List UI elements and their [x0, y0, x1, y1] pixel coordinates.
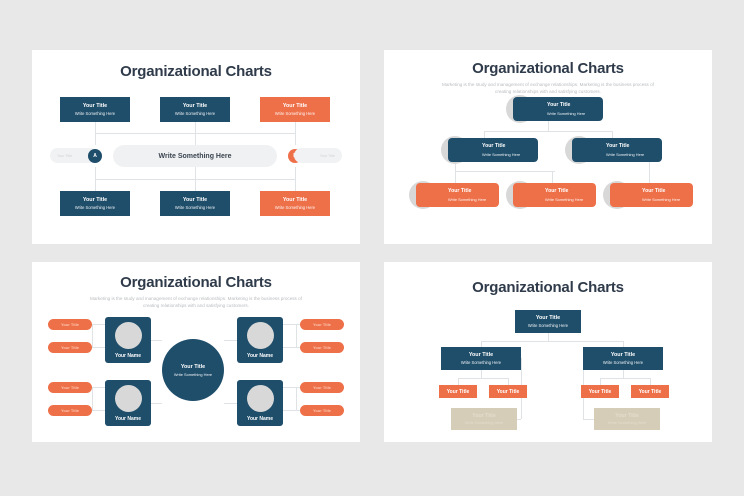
- node-title: Your Title: [639, 389, 662, 395]
- slide-thumbnail-1[interactable]: Organizational Charts Your Title Write S…: [32, 50, 360, 244]
- connector: [484, 131, 485, 138]
- node-desc: Write Something Here: [175, 111, 215, 116]
- connector: [283, 324, 300, 325]
- org-node[interactable]: Your Title Write Something Here: [260, 191, 330, 216]
- connector: [481, 341, 623, 342]
- org-node[interactable]: Your Title Write Something Here: [572, 138, 662, 162]
- node-title: Your Title: [589, 389, 612, 395]
- node-desc: Write Something Here: [482, 152, 538, 157]
- pill-label: Your Title: [313, 345, 331, 350]
- connector: [295, 167, 296, 191]
- node-desc: Write Something Here: [465, 420, 503, 425]
- org-node-leaf[interactable]: Your Title: [581, 385, 619, 398]
- node-desc: Write Something Here: [606, 152, 662, 157]
- connector: [151, 340, 162, 341]
- node-title: Your Title: [83, 197, 107, 204]
- page-subtitle: Marketing is the study and management of…: [441, 81, 656, 95]
- side-pill-label: Your Title: [320, 154, 335, 158]
- node-title: Your Title: [83, 103, 107, 110]
- connector: [224, 403, 237, 404]
- connector: [623, 370, 624, 378]
- node-desc: Write Something Here: [545, 197, 596, 202]
- node-desc: Write Something Here: [175, 205, 215, 210]
- connector: [548, 333, 549, 341]
- side-pill-right[interactable]: Your Title: [294, 148, 342, 163]
- avatar: [247, 385, 274, 412]
- slide-thumbnail-4[interactable]: Organizational Charts Your Title Write S…: [384, 262, 712, 442]
- connector: [517, 419, 521, 420]
- branch-pill[interactable]: Your Title: [48, 342, 92, 353]
- org-node-leaf[interactable]: Your Title: [631, 385, 669, 398]
- avatar: [247, 322, 274, 349]
- branch-pill[interactable]: Your Title: [48, 382, 92, 393]
- person-name: Your Name: [247, 416, 273, 422]
- node-title: Your Title: [606, 143, 662, 150]
- org-node-leaf[interactable]: Your Title: [489, 385, 527, 398]
- node-title: Your Title: [183, 103, 207, 110]
- org-node-leaf[interactable]: Your Title: [439, 385, 477, 398]
- node-title: Your Title: [447, 389, 470, 395]
- node-desc: Write Something Here: [275, 111, 315, 116]
- connector: [92, 387, 93, 410]
- page-title: Organizational Charts: [32, 262, 360, 291]
- org-node[interactable]: Your Title Write Something Here: [610, 183, 693, 207]
- connector: [458, 378, 508, 379]
- connector: [552, 171, 553, 183]
- node-title: Your Title: [283, 197, 307, 204]
- org-node[interactable]: Your Title Write Something Here: [441, 347, 521, 370]
- node-title: Your Title: [469, 352, 493, 359]
- node-title: Your Title: [472, 413, 495, 419]
- center-banner[interactable]: Write Something Here: [113, 145, 277, 167]
- pill-label: Your Title: [313, 408, 331, 413]
- node-desc: Write Something Here: [461, 360, 501, 365]
- page-title: Organizational Charts: [384, 50, 712, 77]
- connector: [296, 387, 297, 410]
- connector: [151, 403, 162, 404]
- person-card[interactable]: Your Name: [105, 317, 151, 363]
- node-title: Your Title: [536, 315, 560, 322]
- person-card[interactable]: Your Name: [105, 380, 151, 426]
- connector: [92, 410, 105, 411]
- side-pill-label: Your Title: [57, 154, 72, 158]
- page-title: Organizational Charts: [32, 50, 360, 80]
- node-title: Your Title: [283, 103, 307, 110]
- node-desc: Write Something Here: [528, 323, 568, 328]
- connector: [458, 378, 459, 385]
- node-title: Your Title: [448, 188, 499, 195]
- node-desc: Write Something Here: [75, 111, 115, 116]
- node-title: Your Title: [615, 413, 638, 419]
- node-desc: Write Something Here: [448, 197, 499, 202]
- connector: [484, 131, 612, 132]
- pill-label: Your Title: [61, 408, 79, 413]
- connector: [296, 324, 297, 347]
- pill-label: Your Title: [313, 322, 331, 327]
- connector: [92, 324, 93, 347]
- connector: [612, 131, 613, 138]
- badge-label: A: [93, 153, 97, 159]
- org-node[interactable]: Your Title Write Something Here: [160, 97, 230, 122]
- person-name: Your Name: [115, 416, 141, 422]
- org-node-muted[interactable]: Your Title Write Something Here: [594, 408, 660, 430]
- connector: [224, 340, 237, 341]
- connector: [600, 378, 650, 379]
- connector: [283, 347, 300, 348]
- node-title: Your Title: [181, 364, 205, 370]
- slide-thumbnail-2[interactable]: Organizational Charts Marketing is the s…: [384, 50, 712, 244]
- connector: [650, 378, 651, 385]
- org-node[interactable]: Your Title Write Something Here: [513, 183, 596, 207]
- connector: [92, 387, 105, 388]
- pill-label: Your Title: [313, 385, 331, 390]
- center-banner-label: Write Something Here: [159, 153, 232, 160]
- connector: [95, 179, 295, 180]
- org-node-muted[interactable]: Your Title Write Something Here: [451, 408, 517, 430]
- branch-pill[interactable]: Your Title: [300, 319, 344, 330]
- org-node[interactable]: Your Title Write Something Here: [513, 97, 603, 121]
- connector: [283, 387, 300, 388]
- node-title: Your Title: [642, 188, 693, 195]
- page-subtitle: Marketing is the study and management of…: [89, 295, 304, 309]
- connector: [508, 378, 509, 385]
- branch-pill[interactable]: Your Title: [48, 405, 92, 416]
- node-desc: Write Something Here: [75, 205, 115, 210]
- org-node[interactable]: Your Title Write Something Here: [448, 138, 538, 162]
- org-node[interactable]: Your Title Write Something Here: [60, 191, 130, 216]
- connector: [95, 133, 295, 134]
- badge-a[interactable]: A: [88, 149, 102, 163]
- slide-thumbnail-3[interactable]: Organizational Charts Marketing is the s…: [32, 262, 360, 442]
- node-desc: Write Something Here: [174, 372, 212, 377]
- connector: [455, 171, 555, 172]
- slide-deck-page: Organizational Charts Your Title Write S…: [0, 0, 744, 496]
- branch-pill[interactable]: Your Title: [300, 342, 344, 353]
- person-name: Your Name: [247, 353, 273, 359]
- person-card[interactable]: Your Name: [237, 317, 283, 363]
- center-node[interactable]: Your Title Write Something Here: [162, 339, 224, 401]
- person-name: Your Name: [115, 353, 141, 359]
- node-desc: Write Something Here: [642, 197, 693, 202]
- page-title: Organizational Charts: [384, 262, 712, 296]
- connector: [649, 162, 650, 183]
- node-title: Your Title: [545, 188, 596, 195]
- avatar: [115, 385, 142, 412]
- node-title: Your Title: [611, 352, 635, 359]
- person-card[interactable]: Your Name: [237, 380, 283, 426]
- connector: [92, 324, 105, 325]
- avatar: [115, 322, 142, 349]
- branch-pill[interactable]: Your Title: [300, 405, 344, 416]
- org-node[interactable]: Your Title Write Something Here: [260, 97, 330, 122]
- node-desc: Write Something Here: [547, 111, 603, 116]
- connector: [283, 410, 300, 411]
- connector: [583, 419, 594, 420]
- branch-pill[interactable]: Your Title: [300, 382, 344, 393]
- node-title: Your Title: [183, 197, 207, 204]
- node-desc: Write Something Here: [275, 205, 315, 210]
- org-node[interactable]: Your Title Write Something Here: [160, 191, 230, 216]
- node-desc: Write Something Here: [608, 420, 646, 425]
- node-title: Your Title: [482, 143, 538, 150]
- pill-label: Your Title: [61, 385, 79, 390]
- org-node[interactable]: Your Title Write Something Here: [60, 97, 130, 122]
- connector: [92, 347, 105, 348]
- org-node-root[interactable]: Your Title Write Something Here: [515, 310, 581, 333]
- org-node[interactable]: Your Title Write Something Here: [416, 183, 499, 207]
- connector: [455, 171, 456, 183]
- node-title: Your Title: [547, 102, 603, 109]
- branch-pill[interactable]: Your Title: [48, 319, 92, 330]
- connector: [600, 378, 601, 385]
- org-node[interactable]: Your Title Write Something Here: [583, 347, 663, 370]
- connector: [295, 122, 296, 145]
- pill-label: Your Title: [61, 322, 79, 327]
- node-title: Your Title: [497, 389, 520, 395]
- connector: [548, 121, 549, 131]
- connector: [481, 370, 482, 378]
- pill-label: Your Title: [61, 345, 79, 350]
- node-desc: Write Something Here: [603, 360, 643, 365]
